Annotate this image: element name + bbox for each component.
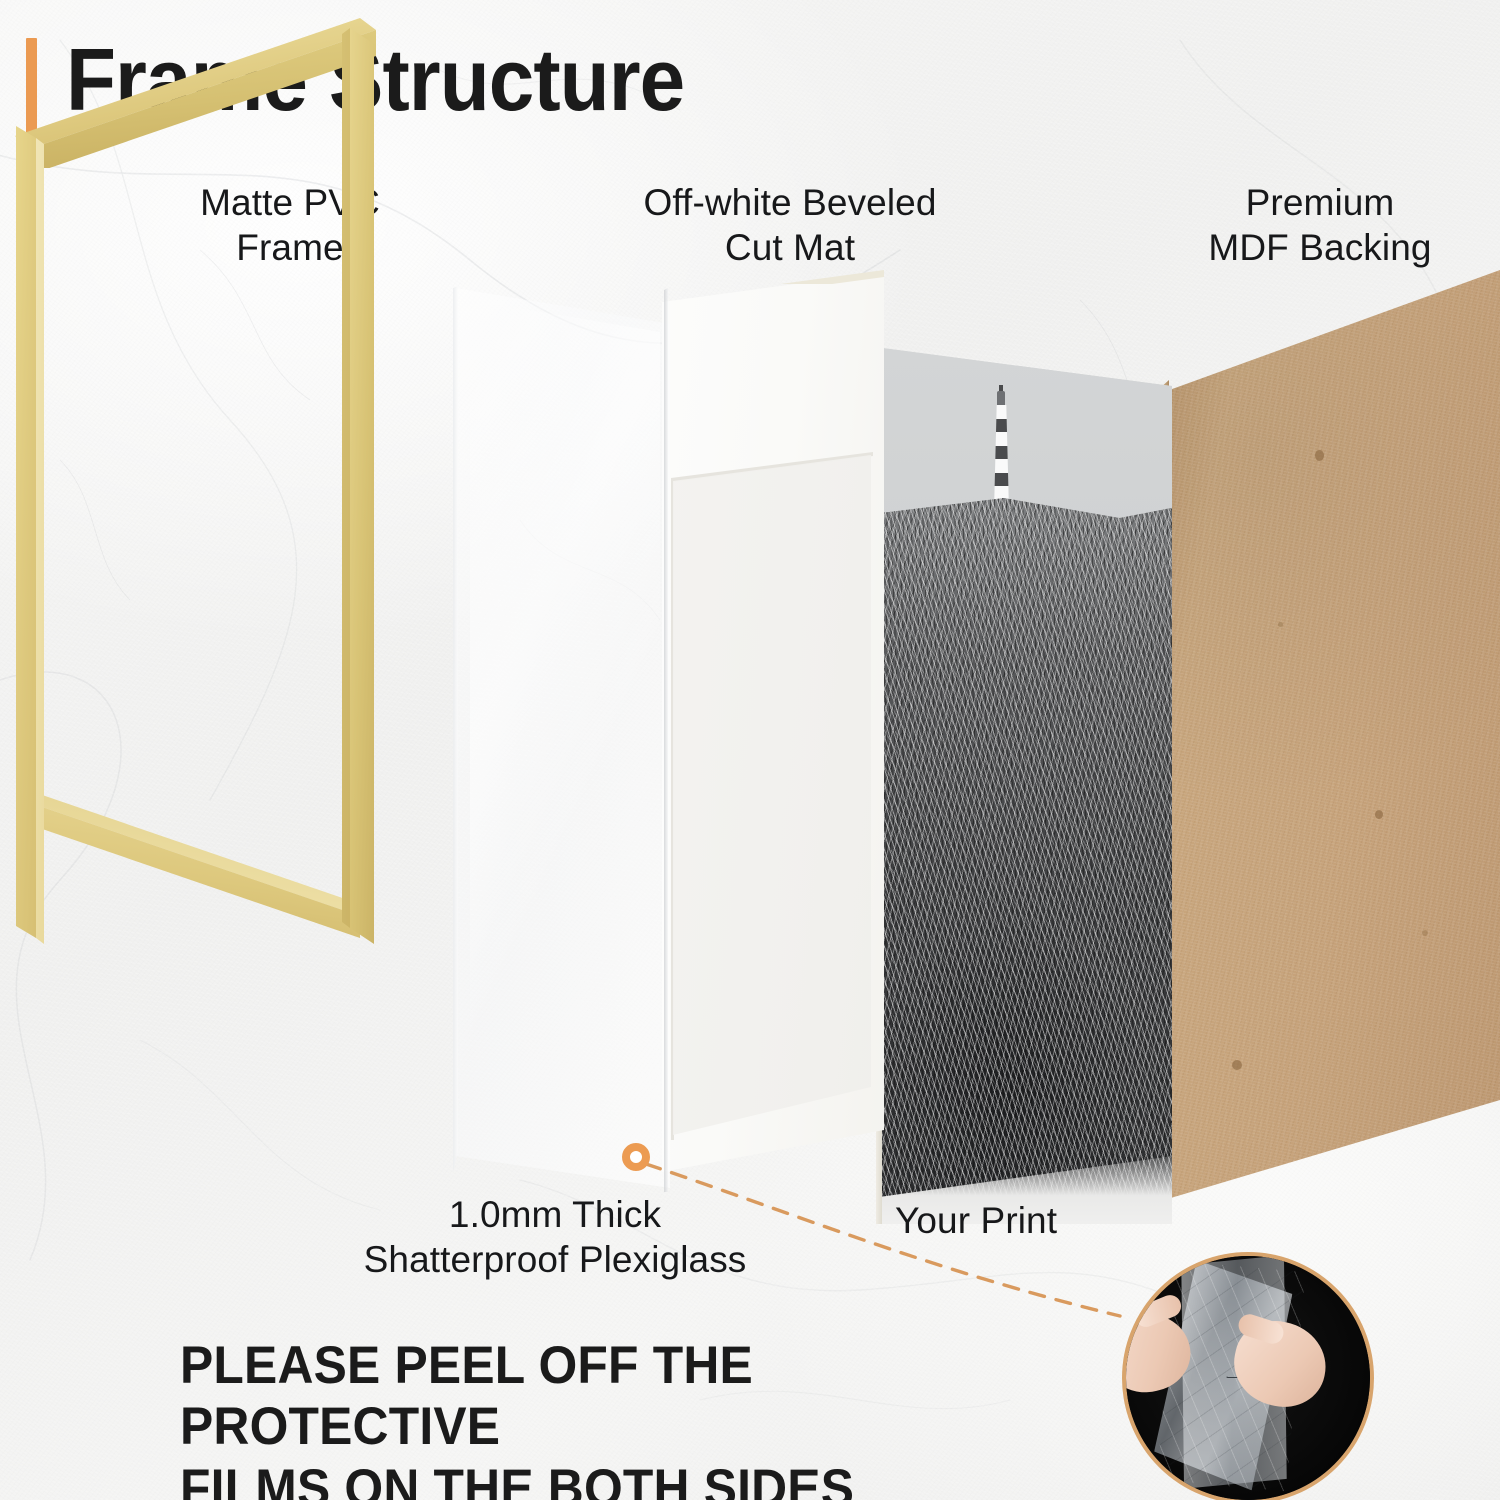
lighthouse-icon — [990, 391, 1012, 511]
mdf-knot — [1422, 930, 1428, 936]
label-line-2: Frame — [110, 225, 470, 270]
label-mdf-backing: Premium MDF Backing — [1140, 180, 1500, 270]
plexiglass-left-edge — [453, 286, 458, 1172]
callout-ring-marker — [622, 1143, 650, 1171]
cut-mat-window — [673, 455, 871, 1135]
title-accent-bar — [26, 38, 37, 138]
mdf-fibre-texture — [1160, 270, 1500, 1200]
instruction-text: PLEASE PEEL OFF THE PROTECTIVE FILMS ON … — [180, 1335, 1007, 1500]
mdf-knot — [1278, 622, 1283, 627]
label-line-2: MDF Backing — [1140, 225, 1500, 270]
callout-leader — [600, 1120, 1160, 1350]
instruction-line-2: FILMS ON THE BOTH SIDES — [180, 1458, 1007, 1500]
plexiglass-right-edge — [664, 272, 668, 1192]
label-cut-mat: Off-white Beveled Cut Mat — [580, 180, 1000, 270]
instruction-highlight: BOTH SIDES — [548, 1458, 854, 1500]
label-line-1: Matte PVC — [110, 180, 470, 225]
photo-dune-grass — [882, 490, 1172, 1224]
label-line-1: Premium — [1140, 180, 1500, 225]
label-matte-pvc-frame: Matte PVC Frame — [110, 180, 470, 270]
photo-dune — [882, 490, 1172, 1224]
mdf-knot — [1375, 810, 1383, 819]
label-line-1: Off-white Beveled — [580, 180, 1000, 225]
instruction-line-2-prefix: FILMS ON THE — [180, 1459, 548, 1500]
mdf-knot — [1315, 450, 1324, 461]
infographic-canvas: Frame Structure Matte PVC Frame Off-whit… — [0, 0, 1500, 1500]
label-line-2: Cut Mat — [580, 225, 1000, 270]
peel-film-photo-inset — [1122, 1252, 1374, 1500]
mdf-knot — [1232, 1060, 1242, 1070]
instruction-line-1: PLEASE PEEL OFF THE PROTECTIVE — [180, 1335, 1007, 1458]
print-photo — [882, 348, 1172, 1224]
mdf-backing-panel — [1160, 270, 1500, 1200]
plexiglass-sheen — [470, 300, 660, 1170]
